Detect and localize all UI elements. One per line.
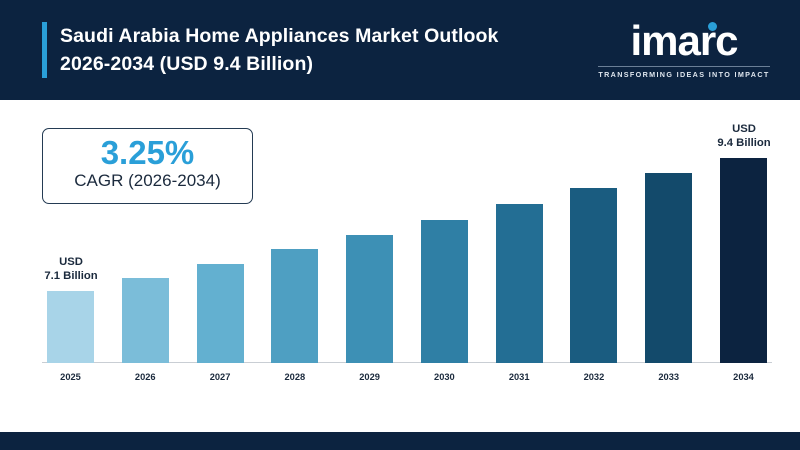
- bar-2027: [197, 264, 244, 363]
- x-axis-tick-2033: 2033: [640, 372, 697, 382]
- x-axis-tick-2028: 2028: [266, 372, 323, 382]
- bar-2034: [720, 158, 767, 363]
- bar-value-label-amount-2034: 9.4 Billion: [709, 136, 779, 150]
- x-axis-tick-2031: 2031: [491, 372, 548, 382]
- x-axis-tick-2027: 2027: [192, 372, 249, 382]
- x-axis-tick-2025: 2025: [42, 372, 99, 382]
- bar-2031: [496, 204, 543, 363]
- bar-value-label-unit-2034: USD: [709, 122, 779, 136]
- x-axis-tick-2030: 2030: [416, 372, 473, 382]
- logo-dot-icon: [708, 22, 717, 31]
- bar-value-label-unit-2025: USD: [36, 255, 106, 269]
- header-banner: Saudi Arabia Home Appliances Market Outl…: [0, 0, 800, 100]
- page-title: Saudi Arabia Home Appliances Market Outl…: [60, 22, 620, 78]
- logo-wordmark: imarc: [630, 20, 737, 62]
- x-axis-tick-2026: 2026: [117, 372, 174, 382]
- bar-value-label-amount-2025: 7.1 Billion: [36, 269, 106, 283]
- footer-strip: [0, 432, 800, 450]
- bar-value-label-2034: USD9.4 Billion: [709, 122, 779, 150]
- bar-2028: [271, 249, 318, 363]
- chart-plot-area: USD7.1 Billion20252026202720282029203020…: [42, 128, 772, 390]
- bar-2030: [421, 220, 468, 363]
- bar-2025: [47, 291, 94, 363]
- bar-value-label-2025: USD7.1 Billion: [36, 255, 106, 283]
- market-outlook-bar-chart: USD7.1 Billion20252026202720282029203020…: [42, 118, 772, 418]
- page-title-line-1: Saudi Arabia Home Appliances Market Outl…: [60, 25, 498, 47]
- bar-2032: [570, 188, 617, 363]
- x-axis-tick-2034: 2034: [715, 372, 772, 382]
- title-accent-bar: [42, 22, 47, 78]
- infographic-page: Saudi Arabia Home Appliances Market Outl…: [0, 0, 800, 450]
- bar-2026: [122, 278, 169, 363]
- imarc-logo[interactable]: imarc TRANSFORMING IDEAS INTO IMPACT: [596, 20, 772, 79]
- page-title-line-2: 2026-2034 (USD 9.4 Billion): [60, 50, 620, 78]
- x-axis-tick-2029: 2029: [341, 372, 398, 382]
- logo-divider: [598, 66, 770, 67]
- bar-2033: [645, 173, 692, 363]
- bar-2029: [346, 235, 393, 363]
- x-axis-tick-2032: 2032: [565, 372, 622, 382]
- logo-wordmark-text: imarc: [630, 17, 737, 64]
- logo-tagline: TRANSFORMING IDEAS INTO IMPACT: [596, 70, 772, 79]
